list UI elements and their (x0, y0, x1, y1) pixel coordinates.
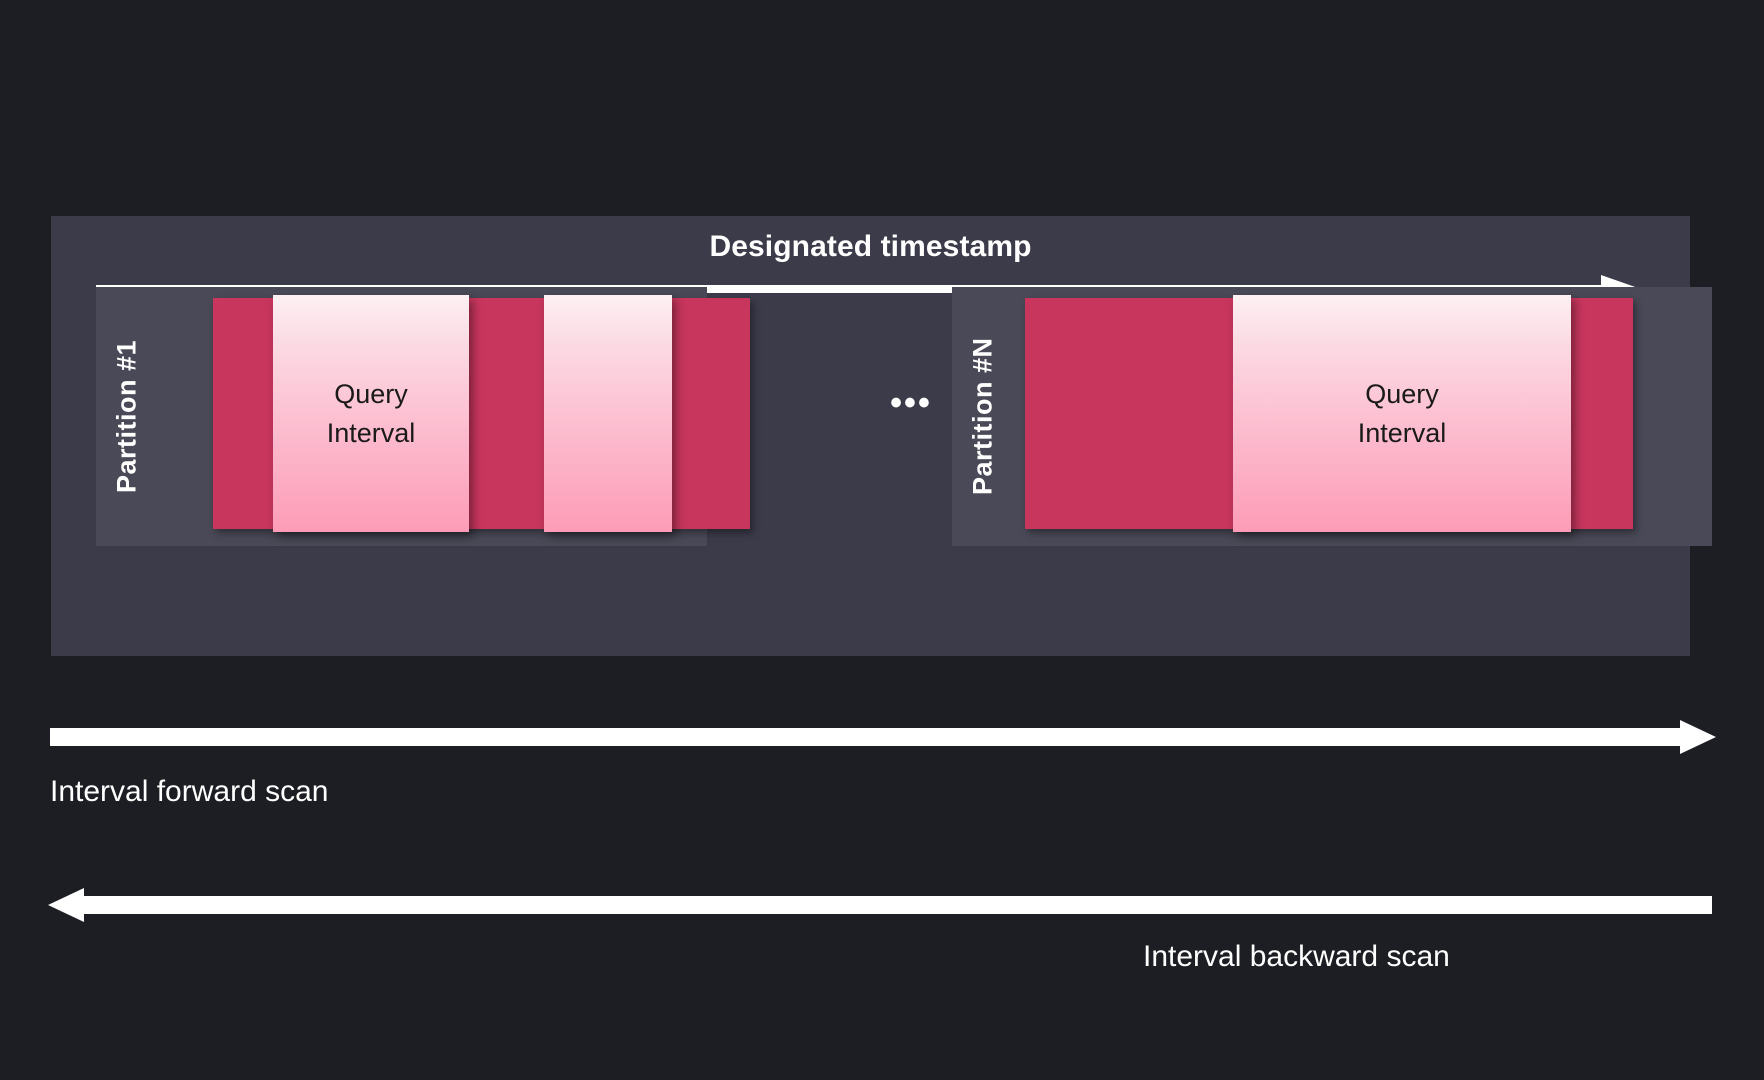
query-interval-label-line1: Query (1365, 375, 1439, 413)
interval-backward-scan-label: Interval backward scan (1143, 940, 1450, 974)
arrow-head-left-icon (48, 888, 84, 922)
partition-n-query-interval-1[interactable]: Query Interval (1233, 295, 1571, 532)
designated-timestamp-panel: Designated timestamp Partition #1 Query … (51, 216, 1690, 656)
query-interval-label-line2: Interval (1358, 414, 1447, 452)
partition-1-query-interval-2[interactable] (544, 295, 672, 532)
arrow-shaft (50, 728, 1682, 746)
partition-n-label: Partition #N (961, 287, 1005, 546)
partition-n-box[interactable]: Partition #N Query Interval (952, 287, 1712, 546)
ellipsis-separator: ••• (871, 386, 951, 420)
partition-1-box[interactable]: Partition #1 Query Interval (96, 287, 707, 546)
partition-1-query-interval-1[interactable]: Query Interval (273, 295, 469, 532)
interval-forward-scan-arrow-icon (50, 720, 1716, 754)
arrow-shaft (82, 896, 1712, 914)
interval-forward-scan-label: Interval forward scan (50, 775, 328, 809)
query-interval-label-line2: Interval (327, 414, 416, 452)
partition-1-label: Partition #1 (105, 287, 149, 546)
arrow-head-right-icon (1680, 720, 1716, 754)
interval-backward-scan-arrow-icon (48, 888, 1712, 922)
query-interval-label-line1: Query (334, 375, 408, 413)
page-title: Designated timestamp (51, 230, 1690, 264)
diagram-canvas: Designated timestamp Partition #1 Query … (0, 0, 1764, 1080)
